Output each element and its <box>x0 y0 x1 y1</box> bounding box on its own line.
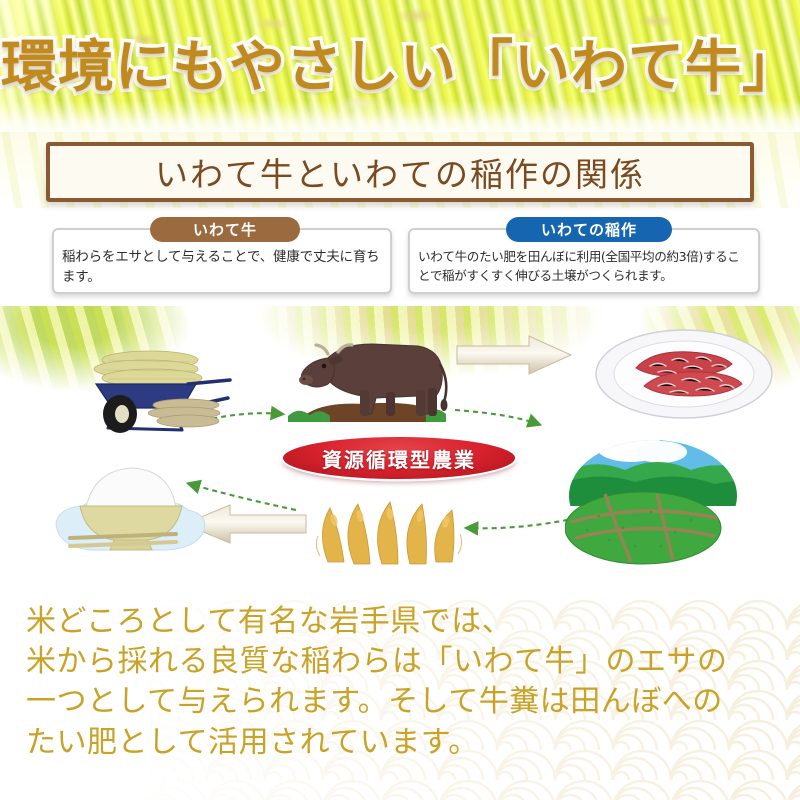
rice-ear-illustration <box>310 496 470 574</box>
info-cards: いわて牛 稲わらをエサとして与えることで、健康で丈夫に育ちます。 いわての稲作 … <box>0 210 800 306</box>
bottom-line-3: 一つとして与えられます。そして牛糞は田んぼへの <box>26 682 786 722</box>
subtitle-text: いわて牛といわての稲作の関係 <box>155 148 645 196</box>
hero-bottom-fade <box>0 100 800 132</box>
subtitle-banner: いわて牛といわての稲作の関係 <box>46 142 754 202</box>
cow-illustration <box>268 316 468 431</box>
infographic-page: 環境にもやさしい「いわて牛」 いわて牛といわての稲作の関係 いわて牛 稲わらをエ… <box>0 0 800 800</box>
center-badge: 資源循環型農業 <box>283 437 515 479</box>
card-iwate-beef-body: 稲わらをエサとして与えることで、健康で丈夫に育ちます。 <box>62 248 382 288</box>
bottom-line-1: 米どころとして有名な岩手県では、 <box>26 602 786 642</box>
card-iwate-rice-farming-pill: いわての稲作 <box>506 217 672 242</box>
loose-straw-bundle <box>148 392 226 432</box>
card-iwate-beef-pill: いわて牛 <box>150 217 300 242</box>
center-badge-text: 資源循環型農業 <box>322 444 476 473</box>
page-title: 環境にもやさしい「いわて牛」 <box>0 22 800 103</box>
paddy-field-illustration <box>565 436 755 566</box>
arrow-paddy-to-ear <box>468 518 577 528</box>
card-iwate-beef: いわて牛 稲わらをエサとして与えることで、健康で丈夫に育ちます。 <box>52 228 392 294</box>
card-iwate-rice-farming: いわての稲作 いわて牛のたい肥を田んぼに利用(全国平均の約3倍)することで稲がす… <box>408 228 760 294</box>
rice-bowl-illustration <box>48 452 218 564</box>
bottom-line-2: 米から採れる良質な稲わらは「いわて牛」のエサの <box>26 642 786 682</box>
bottom-line-4: たい肥として活用されています。 <box>26 723 786 763</box>
beef-plate-illustration <box>592 324 776 420</box>
card-iwate-rice-farming-body: いわて牛のたい肥を田んぼに利用(全国平均の約3倍)することで稲がすくすく伸びる土… <box>418 248 750 285</box>
arrow-cow-to-beef <box>455 334 575 376</box>
bottom-section: 米どころとして有名な岩手県では、 米から採れる良質な稲わらは「いわて牛」のエサの… <box>0 590 800 800</box>
bottom-paragraph: 米どころとして有名な岩手県では、 米から採れる良質な稲わらは「いわて牛」のエサの… <box>26 602 786 763</box>
